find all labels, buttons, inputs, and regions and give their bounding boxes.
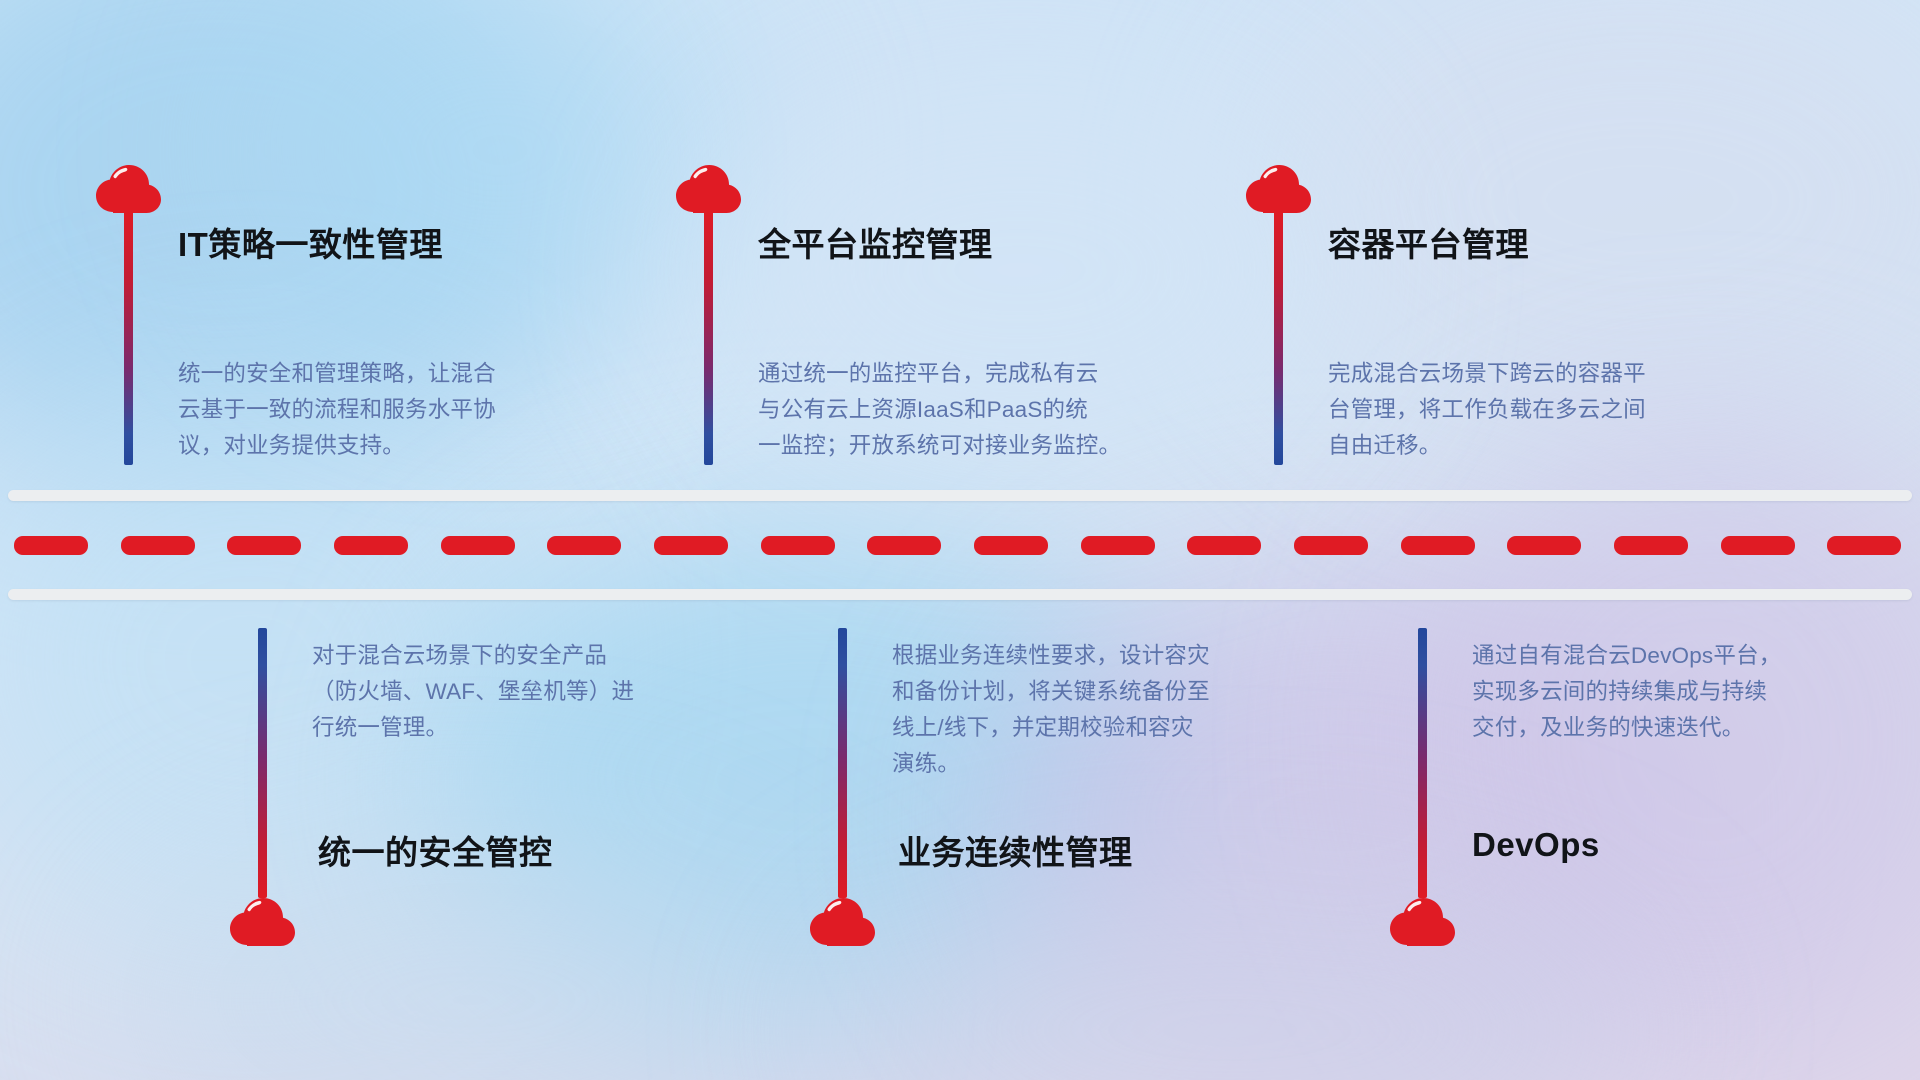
desc-line: 和备份计划，将关键系统备份至 [892, 674, 1322, 710]
bottom-item-description: 通过自有混合云DevOps平台， 实现多云间的持续集成与持续 交付，及业务的快速… [1472, 638, 1902, 746]
desc-line: 通过统一的监控平台，完成私有云 [758, 356, 1198, 392]
cloud-pin-icon [227, 893, 299, 947]
timeline-stem [124, 210, 133, 465]
desc-line: 对于混合云场景下的安全产品 [312, 638, 742, 674]
cloud-pin-icon [1243, 160, 1315, 214]
divider-dash [654, 536, 728, 555]
bottom-item-title: 统一的安全管控 [318, 826, 553, 874]
divider-dash [227, 536, 301, 555]
desc-line: 交付，及业务的快速迭代。 [1472, 710, 1902, 746]
divider-dash-row [0, 536, 1920, 555]
top-item-title: 全平台监控管理 [758, 218, 993, 266]
divider-dash [121, 536, 195, 555]
divider-dash [14, 536, 88, 555]
divider-dash [1187, 536, 1261, 555]
desc-line: 议，对业务提供支持。 [178, 428, 598, 464]
desc-line: 实现多云间的持续集成与持续 [1472, 674, 1902, 710]
top-item-description: 完成混合云场景下跨云的容器平 台管理，将工作负载在多云之间 自由迁移。 [1328, 356, 1768, 464]
divider-dash [1827, 536, 1901, 555]
bottom-item-title: DevOps [1472, 826, 1600, 864]
divider-dash [547, 536, 621, 555]
top-item-description: 通过统一的监控平台，完成私有云 与公有云上资源IaaS和PaaS的统 一监控；开… [758, 356, 1198, 464]
desc-line: 通过自有混合云DevOps平台， [1472, 638, 1902, 674]
road-divider [0, 490, 1920, 600]
divider-dash [1507, 536, 1581, 555]
divider-dash [1401, 536, 1475, 555]
timeline-stem [704, 210, 713, 465]
divider-dash [1721, 536, 1795, 555]
desc-line: 自由迁移。 [1328, 428, 1768, 464]
desc-line: 云基于一致的流程和服务水平协 [178, 392, 598, 428]
desc-line: 与公有云上资源IaaS和PaaS的统 [758, 392, 1198, 428]
desc-line: 一监控；开放系统可对接业务监控。 [758, 428, 1198, 464]
bottom-item-description: 对于混合云场景下的安全产品 （防火墙、WAF、堡垒机等）进 行统一管理。 [312, 638, 742, 746]
timeline-stem [838, 628, 847, 898]
desc-line: 统一的安全和管理策略，让混合 [178, 356, 598, 392]
divider-dash [334, 536, 408, 555]
cloud-pin-icon [93, 160, 165, 214]
timeline-stem [1274, 210, 1283, 465]
desc-line: 演练。 [892, 746, 1322, 782]
divider-dash [1294, 536, 1368, 555]
bottom-item-title: 业务连续性管理 [898, 826, 1133, 874]
desc-line: 行统一管理。 [312, 710, 742, 746]
desc-line: （防火墙、WAF、堡垒机等）进 [312, 674, 742, 710]
desc-line: 台管理，将工作负载在多云之间 [1328, 392, 1768, 428]
divider-line-top [8, 490, 1912, 501]
cloud-pin-icon [807, 893, 879, 947]
top-item-title: 容器平台管理 [1328, 218, 1529, 266]
top-item-description: 统一的安全和管理策略，让混合 云基于一致的流程和服务水平协 议，对业务提供支持。 [178, 356, 598, 464]
divider-dash [761, 536, 835, 555]
top-item-title: IT策略一致性管理 [178, 218, 443, 266]
timeline-stem [258, 628, 267, 898]
divider-dash [974, 536, 1048, 555]
cloud-pin-icon [673, 160, 745, 214]
desc-line: 根据业务连续性要求，设计容灾 [892, 638, 1322, 674]
timeline-stem [1418, 628, 1427, 898]
divider-dash [441, 536, 515, 555]
divider-line-bottom [8, 589, 1912, 600]
divider-dash [867, 536, 941, 555]
desc-line: 线上/线下，并定期校验和容灾 [892, 710, 1322, 746]
bottom-item-description: 根据业务连续性要求，设计容灾 和备份计划，将关键系统备份至 线上/线下，并定期校… [892, 638, 1322, 782]
desc-line: 完成混合云场景下跨云的容器平 [1328, 356, 1768, 392]
divider-dash [1081, 536, 1155, 555]
cloud-pin-icon [1387, 893, 1459, 947]
divider-dash [1614, 536, 1688, 555]
